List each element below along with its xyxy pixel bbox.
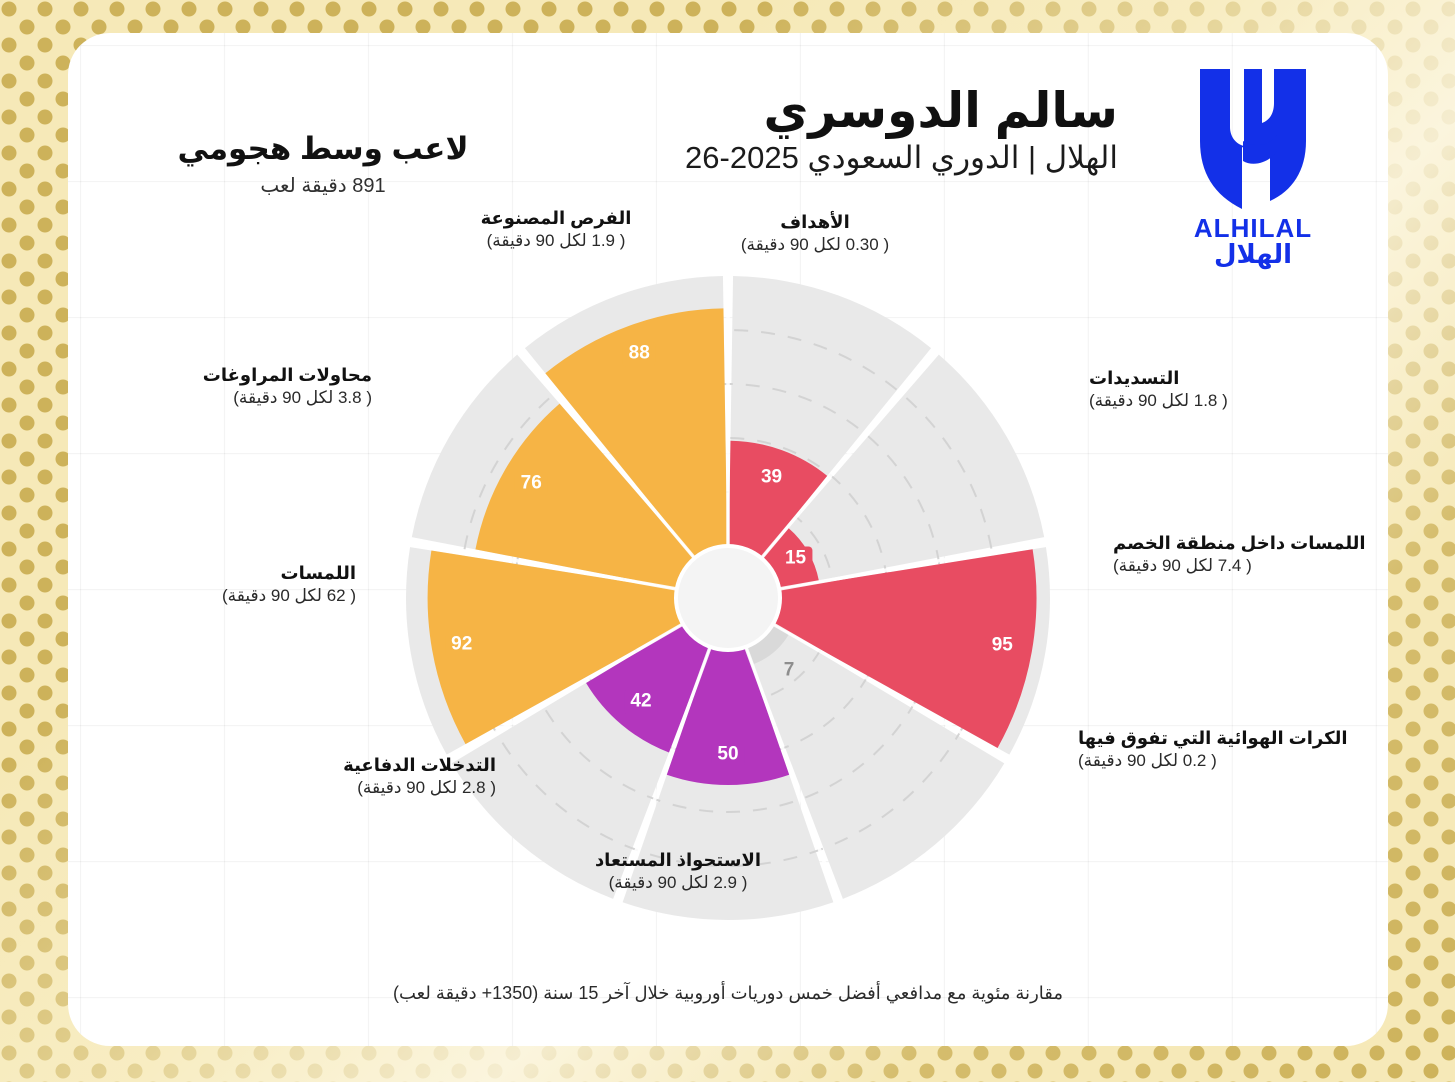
axis-label-name: محاولات المراوغات <box>203 363 372 387</box>
axis-label: محاولات المراوغات( 3.8 لكل 90 دقيقة) <box>203 363 372 410</box>
minutes-played: 891 دقيقة لعب <box>108 173 538 198</box>
player-position: لاعب وسط هجومي <box>108 131 538 167</box>
axis-label-value: ( 7.4 لكل 90 دقيقة) <box>1113 555 1366 578</box>
crest-wordmark-en: ALHILAL <box>1194 215 1312 241</box>
axis-label: التدخلات الدفاعية( 2.8 لكل 90 دقيقة) <box>343 753 496 800</box>
axis-label: اللمسات داخل منطقة الخصم( 7.4 لكل 90 دقي… <box>1113 531 1366 578</box>
pizza-chart-svg <box>378 248 1078 948</box>
title-block: سالم الدوسري الهلال | الدوري السعودي 202… <box>685 85 1118 176</box>
chart-center-hole <box>676 546 780 650</box>
axis-label-value: ( 2.8 لكل 90 دقيقة) <box>343 777 496 800</box>
axis-label-name: اللمسات داخل منطقة الخصم <box>1113 531 1366 555</box>
axis-label-value: ( 62 لكل 90 دقيقة) <box>222 585 356 608</box>
axis-label-name: التسديدات <box>1089 366 1228 390</box>
axis-label-value: ( 1.9 لكل 90 دقيقة) <box>481 230 632 253</box>
header: ALHILAL الهلال سالم الدوسري الهلال | الد… <box>108 63 1348 263</box>
chart-area: 39159575042927688 الأهداف( 0.30 لكل 90 د… <box>68 248 1388 948</box>
axis-label: الأهداف( 0.30 لكل 90 دقيقة) <box>741 210 889 257</box>
report-card: ALHILAL الهلال سالم الدوسري الهلال | الد… <box>68 33 1388 1046</box>
axis-label-value: ( 0.2 لكل 90 دقيقة) <box>1078 750 1348 773</box>
alhilal-crest-icon <box>1194 63 1312 211</box>
club-crest: ALHILAL الهلال <box>1158 63 1348 278</box>
role-block: لاعب وسط هجومي 891 دقيقة لعب <box>108 131 538 198</box>
axis-label: الكرات الهوائية التي تفوق فيها( 0.2 لكل … <box>1078 726 1348 773</box>
axis-label-value: ( 1.8 لكل 90 دقيقة) <box>1089 390 1228 413</box>
club-competition: الهلال | الدوري السعودي 2025-26 <box>685 140 1118 176</box>
axis-label-value: ( 3.8 لكل 90 دقيقة) <box>203 387 372 410</box>
axis-label: اللمسات( 62 لكل 90 دقيقة) <box>222 561 356 608</box>
axis-label: الاستحواذ المستعاد( 2.9 لكل 90 دقيقة) <box>595 848 761 895</box>
axis-label-name: الكرات الهوائية التي تفوق فيها <box>1078 726 1348 750</box>
axis-label-name: التدخلات الدفاعية <box>343 753 496 777</box>
axis-label: التسديدات( 1.8 لكل 90 دقيقة) <box>1089 366 1228 413</box>
axis-label: الفرص المصنوعة( 1.9 لكل 90 دقيقة) <box>481 206 632 253</box>
footer-note: مقارنة مئوية مع مدافعي أفضل خمس دوريات أ… <box>68 983 1388 1004</box>
axis-label-name: الاستحواذ المستعاد <box>595 848 761 872</box>
axis-label-value: ( 2.9 لكل 90 دقيقة) <box>595 872 761 895</box>
axis-label-name: الأهداف <box>741 210 889 234</box>
player-name: سالم الدوسري <box>685 85 1118 138</box>
pizza-chart: 39159575042927688 الأهداف( 0.30 لكل 90 د… <box>378 248 1078 948</box>
axis-label-value: ( 0.30 لكل 90 دقيقة) <box>741 234 889 257</box>
axis-label-name: اللمسات <box>222 561 356 585</box>
axis-label-name: الفرص المصنوعة <box>481 206 632 230</box>
